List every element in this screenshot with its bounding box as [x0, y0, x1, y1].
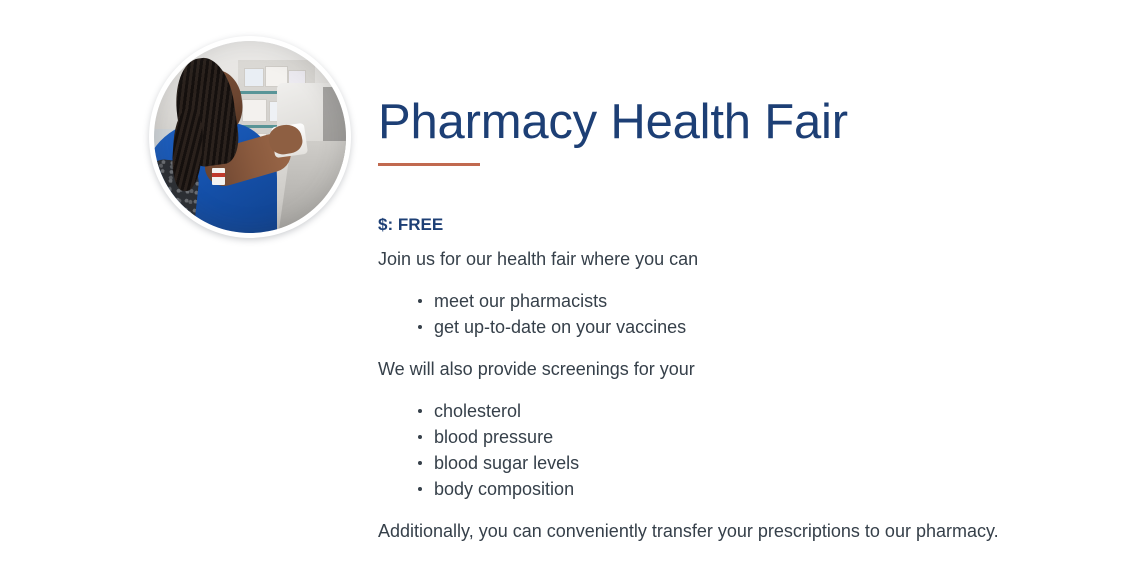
pharmacist-photo-circle	[154, 41, 346, 233]
page-title: Pharmacy Health Fair	[378, 93, 848, 151]
photo-vignette	[154, 41, 346, 233]
screenings-intro-paragraph: We will also provide screenings for your	[378, 356, 695, 382]
activities-list: meet our pharmacists get up-to-date on y…	[378, 288, 686, 340]
price-label: $: FREE	[378, 213, 443, 237]
pharmacist-photo	[149, 36, 351, 238]
title-accent-rule	[378, 163, 480, 166]
list-item: cholesterol	[378, 398, 579, 424]
list-item: get up-to-date on your vaccines	[378, 314, 686, 340]
list-item: blood pressure	[378, 424, 579, 450]
screenings-list: cholesterol blood pressure blood sugar l…	[378, 398, 579, 502]
pharmacy-scene-illustration	[154, 41, 346, 233]
event-flyer-page: Pharmacy Health Fair $: FREE Join us for…	[0, 0, 1133, 568]
list-item: meet our pharmacists	[378, 288, 686, 314]
list-item: blood sugar levels	[378, 450, 579, 476]
intro-paragraph: Join us for our health fair where you ca…	[378, 246, 698, 272]
list-item: body composition	[378, 476, 579, 502]
closing-paragraph: Additionally, you can conveniently trans…	[378, 518, 999, 544]
